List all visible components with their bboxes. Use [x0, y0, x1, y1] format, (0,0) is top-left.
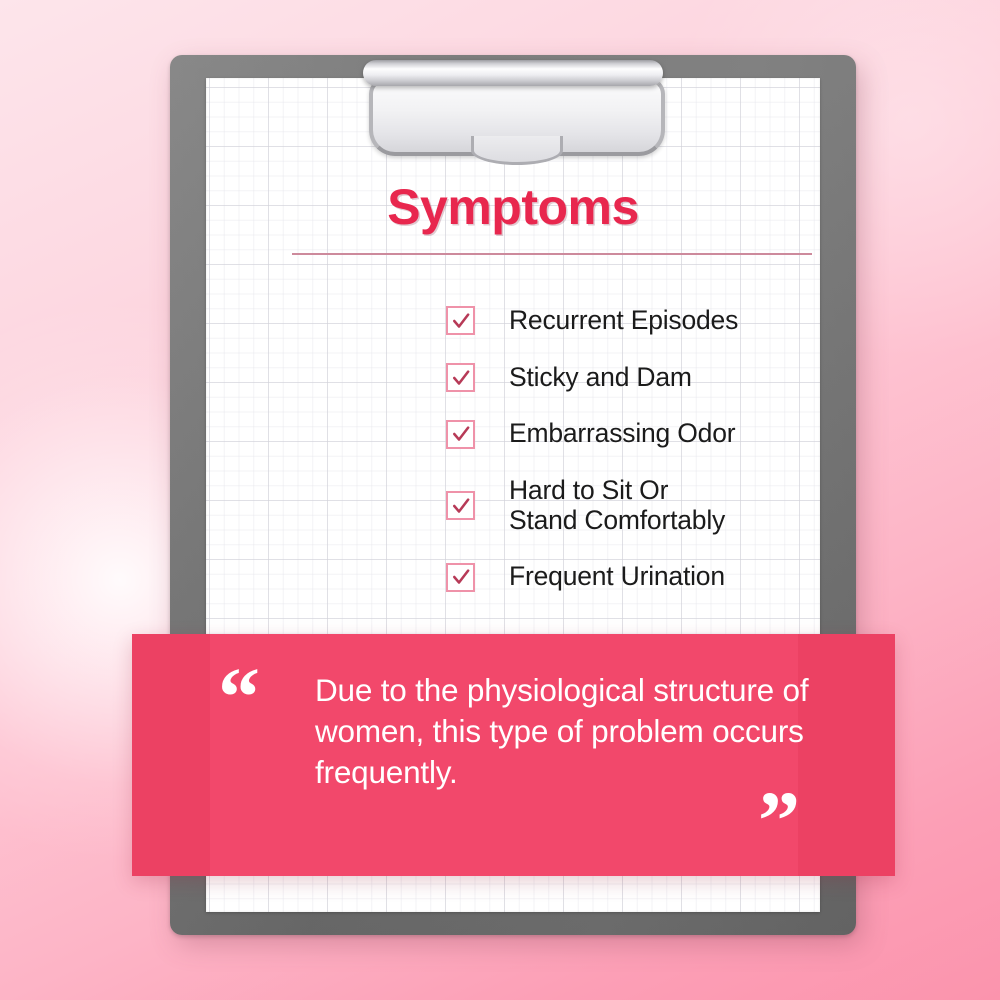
symptom-checklist: Recurrent Episodes Sticky and Dam — [446, 306, 826, 619]
banner-wing-left — [132, 634, 210, 876]
list-item[interactable]: Sticky and Dam — [446, 363, 826, 393]
page-title: Symptoms — [206, 178, 820, 236]
checkbox-checked-icon[interactable] — [446, 420, 475, 449]
symptom-label: Embarrassing Odor — [509, 419, 735, 449]
checkbox-checked-icon[interactable] — [446, 491, 475, 520]
checkbox-checked-icon[interactable] — [446, 306, 475, 335]
quote-close-mark-icon: ” — [758, 780, 798, 864]
symptom-label: Sticky and Dam — [509, 363, 692, 393]
quote-open-mark-icon: “ — [218, 656, 258, 740]
checkbox-checked-icon[interactable] — [446, 363, 475, 392]
symptom-label: Recurrent Episodes — [509, 306, 738, 336]
title-underline-rule — [292, 253, 812, 255]
quote-banner: “ Due to the physiological structure of … — [132, 634, 895, 876]
checkbox-checked-icon[interactable] — [446, 563, 475, 592]
symptom-label: Hard to Sit Or Stand Comfortably — [509, 476, 725, 535]
quote-text: Due to the physiological structure of wo… — [315, 670, 835, 793]
list-item[interactable]: Embarrassing Odor — [446, 419, 826, 449]
list-item[interactable]: Frequent Urination — [446, 562, 826, 592]
symptom-label: Frequent Urination — [509, 562, 725, 592]
list-item[interactable]: Hard to Sit Or Stand Comfortably — [446, 476, 826, 535]
list-item[interactable]: Recurrent Episodes — [446, 306, 826, 336]
